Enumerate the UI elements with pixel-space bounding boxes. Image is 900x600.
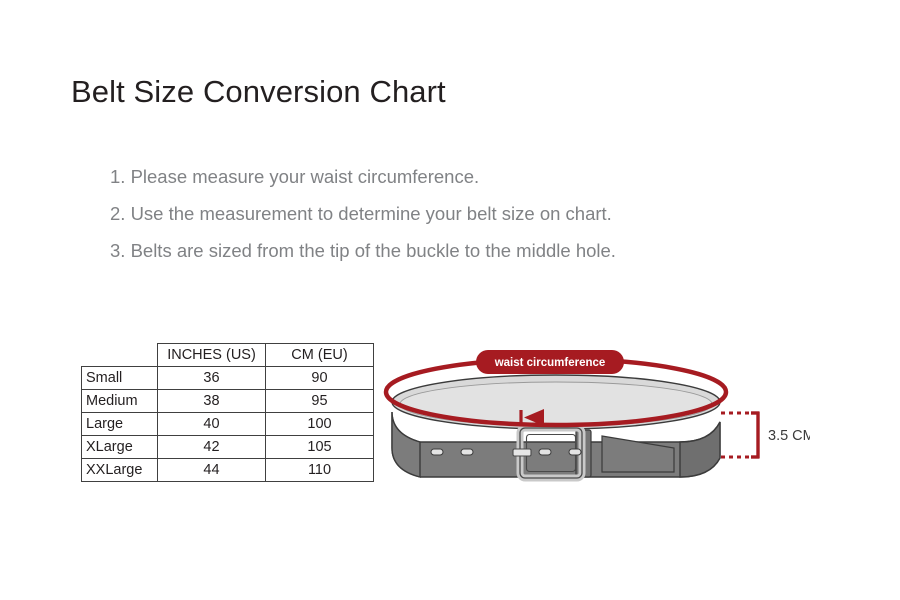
- table-corner-cell: [82, 344, 158, 367]
- table-row: Large 40 100: [82, 413, 374, 436]
- dimension-label: 3.5 CM: [768, 428, 810, 444]
- page-title: Belt Size Conversion Chart: [71, 74, 446, 110]
- belt-hole: [461, 449, 473, 455]
- belt-hole: [539, 449, 551, 455]
- instruction-item-1: 1. Please measure your waist circumferen…: [110, 158, 810, 195]
- row-inches-value: 44: [158, 459, 266, 482]
- table-row: Medium 38 95: [82, 390, 374, 413]
- row-inches-value: 36: [158, 367, 266, 390]
- instruction-item-2: 2. Use the measurement to determine your…: [110, 195, 810, 232]
- belt-diagram: waist circumference 3.5 CM: [380, 330, 810, 500]
- belt-front-wall: [392, 412, 420, 477]
- row-size-label: XLarge: [82, 436, 158, 459]
- waist-circumference-badge-label: waist circumference: [494, 357, 606, 369]
- row-size-label: Medium: [82, 390, 158, 413]
- size-conversion-table: INCHES (US) CM (EU) Small 36 90 Medium 3…: [81, 343, 374, 482]
- belt-hole: [431, 449, 443, 455]
- row-cm-value: 110: [266, 459, 374, 482]
- belt-right-wall: [680, 422, 720, 477]
- table-header-row: INCHES (US) CM (EU): [82, 344, 374, 367]
- row-inches-value: 42: [158, 436, 266, 459]
- row-inches-value: 40: [158, 413, 266, 436]
- belt-hole: [569, 449, 581, 455]
- row-inches-value: 38: [158, 390, 266, 413]
- row-cm-value: 105: [266, 436, 374, 459]
- table-row: Small 36 90: [82, 367, 374, 390]
- row-cm-value: 90: [266, 367, 374, 390]
- row-cm-value: 100: [266, 413, 374, 436]
- instruction-list: 1. Please measure your waist circumferen…: [110, 158, 810, 269]
- column-header-cm: CM (EU): [266, 344, 374, 367]
- instruction-item-3: 3. Belts are sized from the tip of the b…: [110, 232, 810, 269]
- table-row: XXLarge 44 110: [82, 459, 374, 482]
- row-size-label: XXLarge: [82, 459, 158, 482]
- row-size-label: Small: [82, 367, 158, 390]
- row-cm-value: 95: [266, 390, 374, 413]
- table-row: XLarge 42 105: [82, 436, 374, 459]
- column-header-inches: INCHES (US): [158, 344, 266, 367]
- buckle-prong: [513, 449, 531, 456]
- row-size-label: Large: [82, 413, 158, 436]
